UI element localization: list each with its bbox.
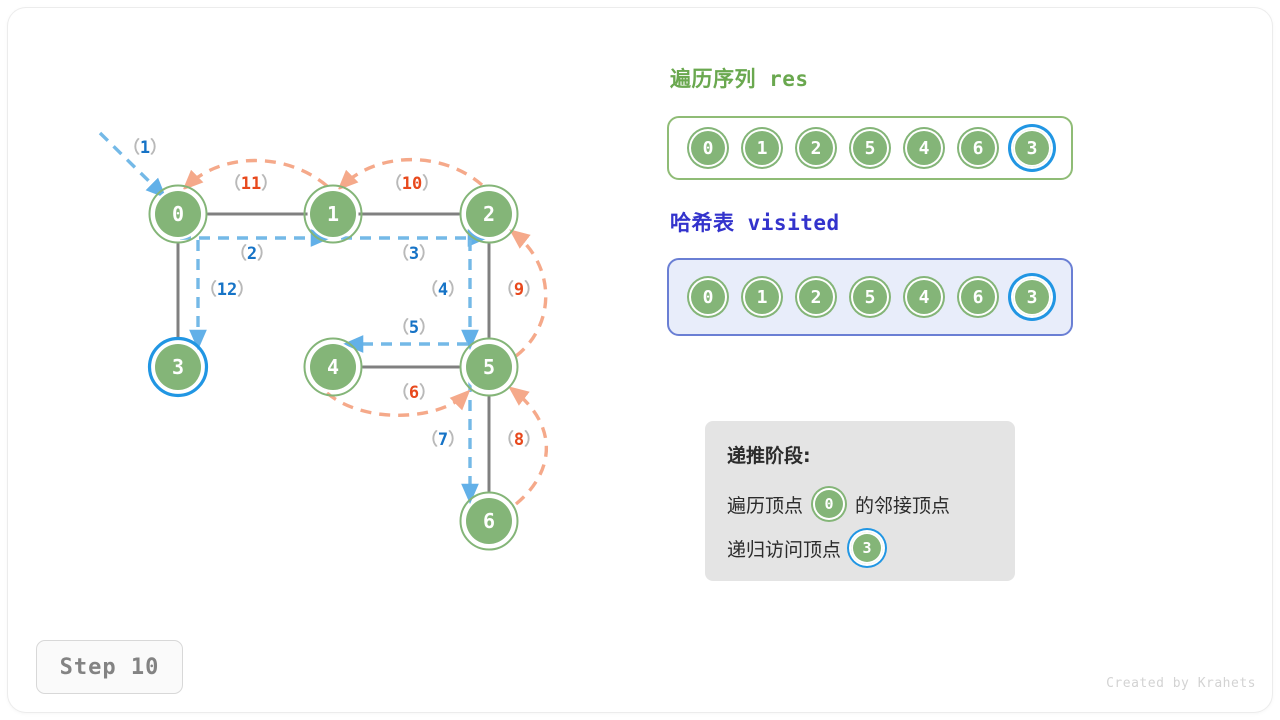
res-item-0: 0 <box>689 129 727 167</box>
res-title: 遍历序列 res <box>670 63 809 93</box>
visited-item-6: 3 <box>1013 278 1051 316</box>
dfs-graph: （1）（2）（3）（4）（5）（6）（7）（8）（9）（10）（11）（12） … <box>0 0 640 620</box>
legend-row-2: 递归访问顶点 3 <box>727 526 1015 570</box>
step-label-12: （12） <box>200 279 254 300</box>
visited-item-2: 2 <box>797 278 835 316</box>
graph-node-1: 1 <box>305 186 362 243</box>
step-label-8: （8） <box>497 429 541 450</box>
credit-text: Created by Krahets <box>1106 676 1256 691</box>
visited-array: 0125463 <box>667 258 1073 336</box>
step-label-2: （2） <box>230 243 274 264</box>
graph-node-6: 6 <box>461 493 518 550</box>
node-label: 6 <box>483 509 495 533</box>
res-item-2: 2 <box>797 129 835 167</box>
graph-nodes: 0123456 <box>150 186 518 550</box>
graph-node-3: 3 <box>150 339 207 396</box>
res-item-3: 5 <box>851 129 889 167</box>
step-label-3: （3） <box>392 243 436 264</box>
phase-legend: 递推阶段: 遍历顶点 0 的邻接顶点 递归访问顶点 3 <box>705 421 1015 581</box>
legend-row-2-prefix: 递归访问顶点 <box>727 535 841 562</box>
legend-row-1-prefix: 遍历顶点 <box>727 491 803 518</box>
graph-node-2: 2 <box>461 186 518 243</box>
step-label-7: （7） <box>421 429 465 450</box>
graph-node-0: 0 <box>150 186 207 243</box>
node-label: 4 <box>327 355 339 379</box>
res-item-5: 6 <box>959 129 997 167</box>
visited-item-5: 6 <box>959 278 997 316</box>
step-label-5: （5） <box>392 317 436 338</box>
step-label-1: （1） <box>123 137 167 158</box>
res-item-4: 4 <box>905 129 943 167</box>
res-item-1: 1 <box>743 129 781 167</box>
visited-item-1: 1 <box>743 278 781 316</box>
node-label: 1 <box>327 202 339 226</box>
visited-title: 哈希表 visited <box>670 207 840 237</box>
legend-chip-current: 0 <box>813 488 845 520</box>
visited-item-3: 5 <box>851 278 889 316</box>
legend-row-1: 遍历顶点 0 的邻接顶点 <box>727 482 1015 526</box>
visited-item-4: 4 <box>905 278 943 316</box>
visited-item-0: 0 <box>689 278 727 316</box>
legend-heading: 递推阶段: <box>727 441 1015 468</box>
legend-row-1-suffix: 的邻接顶点 <box>855 491 950 518</box>
graph-node-5: 5 <box>461 339 518 396</box>
screenshot-canvas: （1）（2）（3）（4）（5）（6）（7）（8）（9）（10）（11）（12） … <box>0 0 1280 720</box>
res-array: 0125463 <box>667 116 1073 180</box>
node-label: 5 <box>483 355 495 379</box>
step-label-9: （9） <box>497 279 541 300</box>
node-label: 2 <box>483 202 495 226</box>
step-label-4: （4） <box>421 279 465 300</box>
node-label: 3 <box>172 355 184 379</box>
node-label: 0 <box>172 202 184 226</box>
res-item-6: 3 <box>1013 129 1051 167</box>
step-label-6: （6） <box>392 382 436 403</box>
step-badge: Step 10 <box>36 640 183 694</box>
step-label-11: （11） <box>224 173 278 194</box>
legend-chip-visiting: 3 <box>851 532 883 564</box>
step-label-10: （10） <box>385 173 439 194</box>
graph-node-4: 4 <box>305 339 362 396</box>
